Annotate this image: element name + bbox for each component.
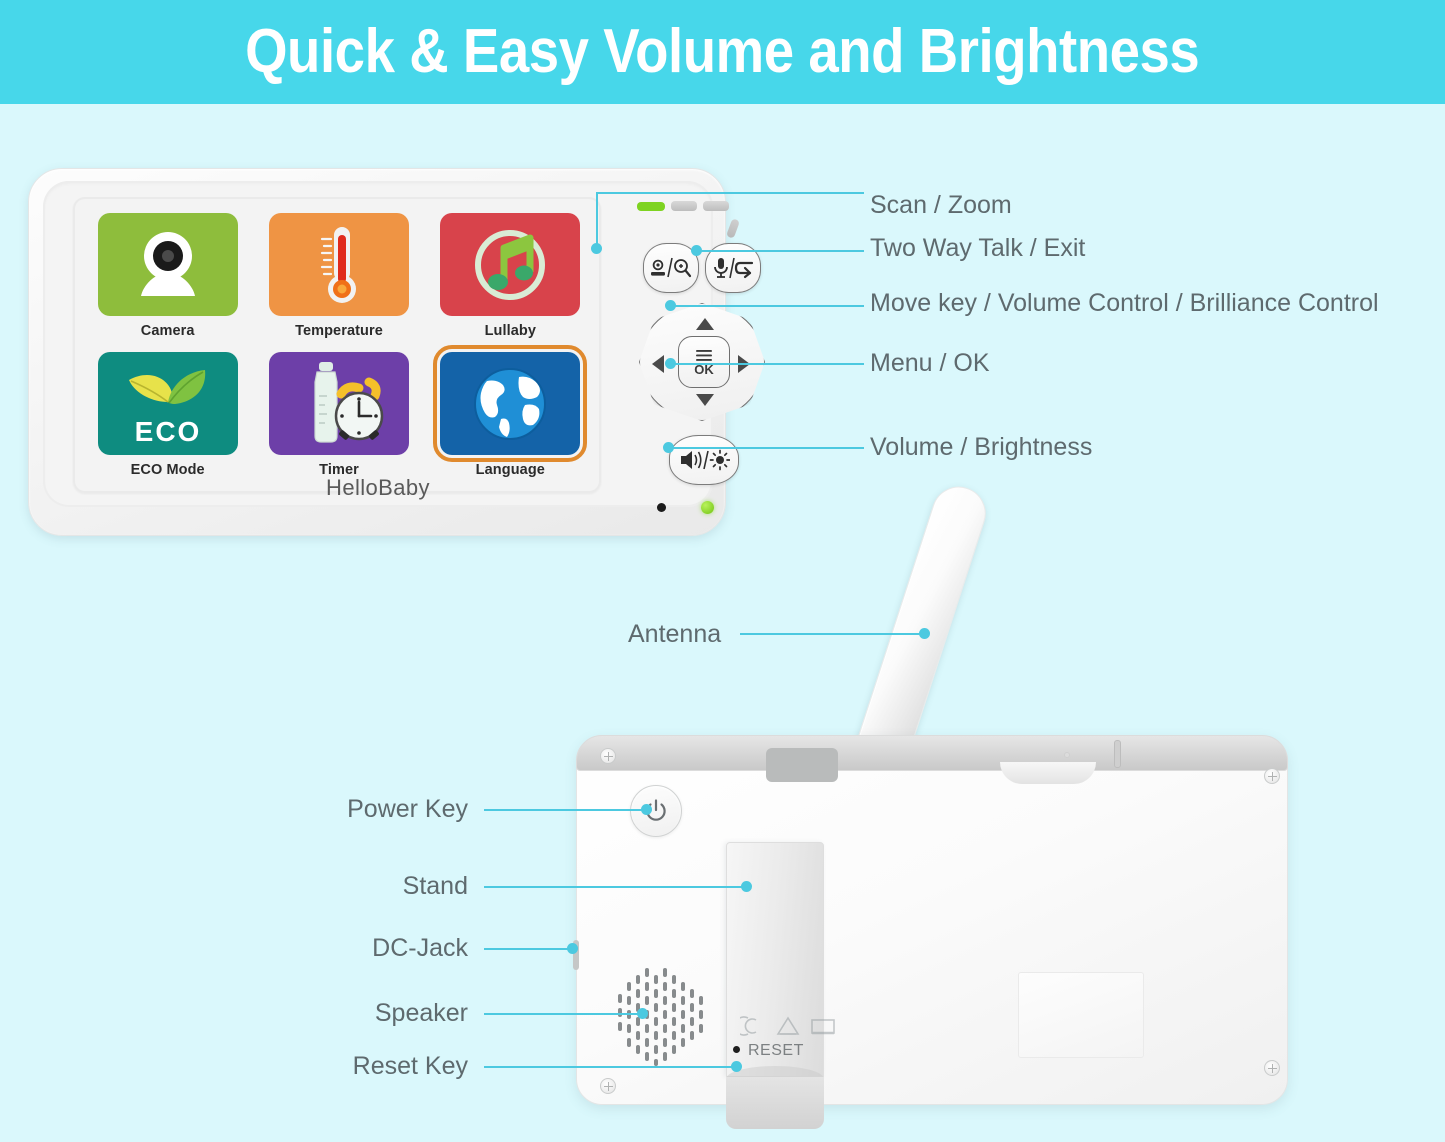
camera-tile[interactable]	[98, 213, 238, 316]
compliance-symbols-icon	[740, 1012, 840, 1040]
callout-scan-zoom: Scan / Zoom	[870, 193, 1012, 218]
power-key-button[interactable]	[630, 785, 682, 837]
callout-move-key: Move key / Volume Control / Brilliance C…	[870, 291, 1379, 316]
music-note-icon	[468, 224, 552, 306]
menu-item-temperature[interactable]: Temperature	[264, 213, 413, 346]
dpad-up-arrow-icon[interactable]	[696, 318, 714, 330]
hinge-pin	[1114, 740, 1121, 768]
menu-item-lullaby[interactable]: Lullaby	[436, 213, 585, 346]
callout-speaker: Speaker	[272, 1001, 468, 1026]
menu-grid: Camera	[93, 213, 585, 485]
brand-logo: HelloBaby	[43, 475, 713, 501]
callout-menu-ok: Menu / OK	[870, 351, 990, 376]
power-led-green-icon	[701, 501, 714, 514]
leader-dot-dc-jack	[567, 943, 578, 954]
leader-line-scan-zoom	[596, 192, 864, 194]
camera-magnifier-icon	[650, 257, 692, 279]
leader-dot-reset-key	[731, 1061, 742, 1072]
callout-power-key: Power Key	[272, 797, 468, 822]
monitor-front-view: Camera	[28, 168, 726, 536]
leader-dot-power-key	[641, 804, 652, 815]
leader-line-volume-brightness	[668, 447, 864, 449]
bottle-clock-icon	[289, 358, 389, 450]
temperature-tile[interactable]	[269, 213, 409, 316]
leader-line-two-way-talk	[696, 250, 864, 252]
menu-hamburger-icon	[694, 349, 714, 362]
leader-dot-move-key	[665, 300, 676, 311]
menu-ok-button[interactable]: OK	[678, 336, 730, 388]
status-led-green-top-icon	[637, 202, 665, 211]
callout-stand: Stand	[272, 874, 468, 899]
leader-line-stand	[484, 886, 746, 888]
lcd-screen: Camera	[73, 197, 601, 493]
leader-dot-stand	[741, 881, 752, 892]
product-label-plate	[1018, 972, 1144, 1058]
leader-line-menu-ok	[670, 363, 864, 365]
leader-line-speaker	[484, 1013, 642, 1015]
speaker-sun-icon	[678, 449, 730, 471]
leader-line-power-key	[484, 809, 646, 811]
reset-label: RESET	[748, 1042, 804, 1060]
certification-marks	[740, 1012, 840, 1040]
sensor-slot-b	[703, 201, 729, 211]
light-sensor-icon	[726, 218, 740, 239]
product-diagram-page: Quick & Easy Volume and Brightness	[0, 0, 1445, 1142]
header-banner: Quick & Easy Volume and Brightness	[0, 0, 1445, 104]
lullaby-tile[interactable]	[440, 213, 580, 316]
reset-pinhole[interactable]	[733, 1046, 740, 1053]
dpad-down-arrow-icon[interactable]	[696, 394, 714, 406]
callout-dc-jack: DC-Jack	[272, 936, 468, 961]
hinge-screw-dot	[1064, 752, 1070, 758]
leader-dot-antenna	[919, 628, 930, 639]
leader-dot-speaker	[637, 1008, 648, 1019]
callout-volume-brightness: Volume / Brightness	[870, 435, 1092, 460]
sensor-slot-a	[671, 201, 697, 211]
front-inner-shell: Camera	[43, 181, 713, 507]
leader-dot-volume-brightness	[663, 442, 674, 453]
menu-item-eco-mode[interactable]: ECO ECO Mode	[93, 352, 242, 485]
antenna-hinge-bar	[576, 735, 1288, 771]
dpad[interactable]: OK	[639, 303, 765, 421]
control-panel: OK	[619, 191, 739, 511]
leader-line-scan-zoom-vert	[596, 192, 598, 248]
leader-line-move-key	[670, 305, 864, 307]
menu-item-timer[interactable]: Timer	[264, 352, 413, 485]
eco-mode-tile[interactable]: ECO	[98, 352, 238, 455]
screw-bottom-right	[1264, 1060, 1280, 1076]
callout-antenna: Antenna	[628, 622, 721, 647]
menu-item-language[interactable]: Language	[436, 352, 585, 485]
screw-top-left	[600, 748, 616, 764]
antenna-hinge-notch	[766, 748, 838, 782]
antenna-hinge-lip	[1000, 762, 1096, 784]
callout-two-way-talk-exit: Two Way Talk / Exit	[870, 236, 1085, 261]
page-title: Quick & Easy Volume and Brightness	[245, 21, 1199, 83]
dpad-left-arrow-icon[interactable]	[652, 355, 664, 373]
globe-icon	[467, 361, 553, 447]
svg-text:ECO: ECO	[134, 416, 201, 447]
tile-label: Lullaby	[485, 323, 536, 339]
thermometer-icon	[304, 223, 374, 307]
leader-dot-two-way-talk	[691, 245, 702, 256]
eco-leaf-icon: ECO	[113, 356, 223, 451]
camera-icon	[126, 230, 210, 300]
timer-tile[interactable]	[269, 352, 409, 455]
leader-dot-scan-zoom	[591, 243, 602, 254]
kickstand-foot	[726, 1077, 824, 1129]
leader-line-dc-jack	[484, 948, 572, 950]
microphone-return-icon	[712, 256, 754, 280]
leader-line-antenna	[740, 633, 926, 635]
callout-reset-key: Reset Key	[272, 1054, 468, 1079]
language-tile[interactable]	[440, 352, 580, 455]
tile-label: Temperature	[295, 323, 383, 339]
screw-top-right	[1264, 768, 1280, 784]
menu-item-camera[interactable]: Camera	[93, 213, 242, 346]
microphone-hole-icon	[657, 503, 666, 512]
screw-bottom-left	[600, 1078, 616, 1094]
tile-label: Camera	[141, 323, 195, 339]
leader-line-reset-key	[484, 1066, 736, 1068]
leader-dot-menu-ok	[665, 358, 676, 369]
